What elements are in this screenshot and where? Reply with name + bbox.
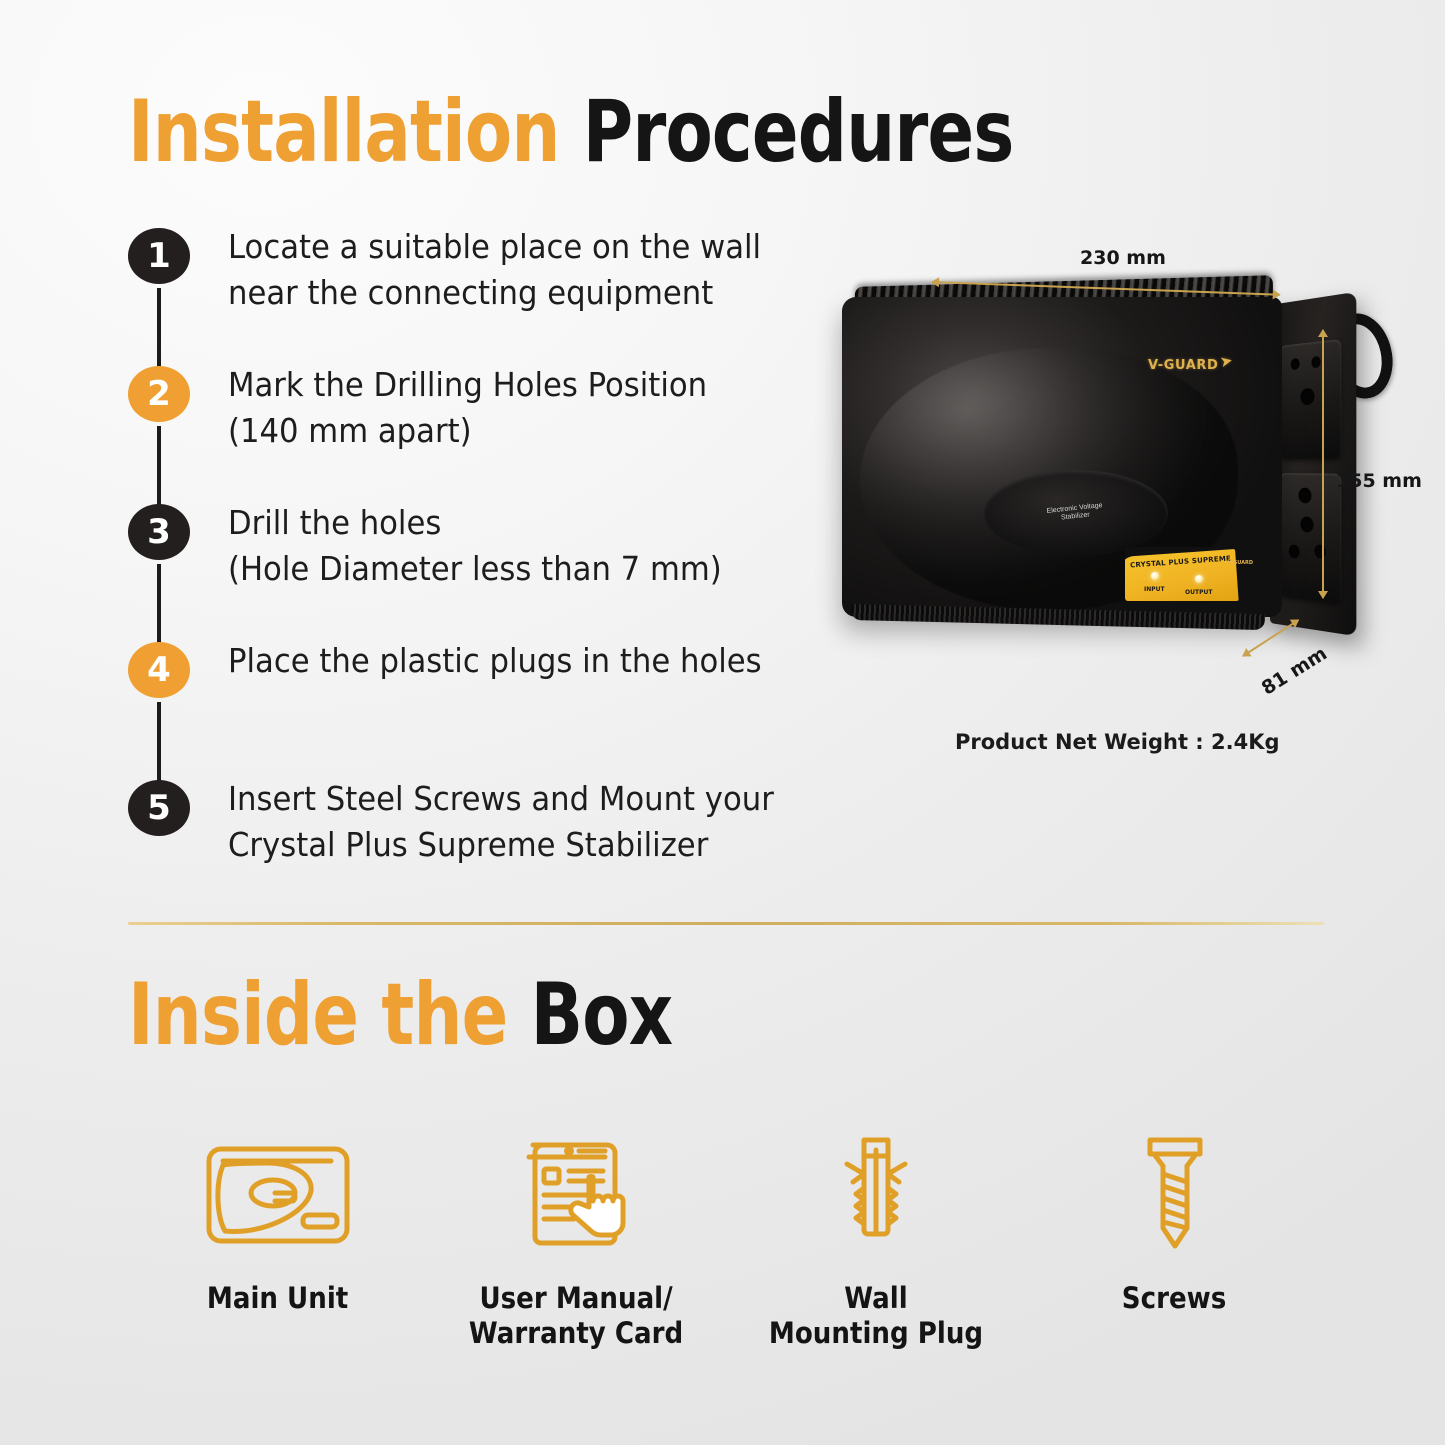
socket-pin-hole <box>1301 388 1315 405</box>
step-number-badge-2: 2 <box>128 366 190 422</box>
dimension-height-label: 155 mm <box>1336 470 1422 492</box>
dimension-width-label: 230 mm <box>1080 247 1166 269</box>
step-number-2: 2 <box>147 374 171 414</box>
front-oval-emblem: Electronic Voltage Stabilizer <box>983 470 1168 556</box>
installation-step-1: 1 Locate a suitable place on the wall ne… <box>128 228 801 315</box>
socket-pin-hole <box>1299 488 1312 504</box>
installation-step-2: 2 Mark the Drilling Holes Position (140 … <box>128 366 743 453</box>
arrowhead-up-icon <box>1318 329 1328 337</box>
vguard-brand-logo: V-GUARD➤ <box>1148 355 1234 373</box>
step-number-4: 4 <box>147 650 171 690</box>
box-contents-list: Main Unit User Manual/ Warranty Card <box>128 1135 1324 1352</box>
box-item-label-user-manual: User Manual/ Warranty Card <box>469 1281 683 1352</box>
socket-pin-hole <box>1311 356 1320 368</box>
step-text-1: Locate a suitable place on the wall near… <box>228 224 761 315</box>
step-number-badge-4: 4 <box>128 642 190 698</box>
box-heading-dark: Box <box>508 965 673 1065</box>
wall-plug-anchor-icon <box>831 1135 921 1253</box>
box-item-label-wall-plug: Wall Mounting Plug <box>768 1281 982 1352</box>
socket-outlet-bottom <box>1279 473 1341 604</box>
stabilizer-unit-icon <box>203 1135 353 1253</box>
installation-heading: Installation Procedures <box>128 82 1014 182</box>
product-model-label: CRYSTAL PLUS SUPREME INPUT OUTPUT V-GUAR… <box>1125 547 1260 601</box>
stabilizer-unit-photo: Electronic Voltage Stabilizer V-GUARD➤ C… <box>842 297 1282 617</box>
box-heading-accent: Inside the <box>128 965 508 1065</box>
label-vguard-mark: V-GUARD <box>1228 560 1253 566</box>
arrowhead-left-icon <box>931 277 939 287</box>
product-photo-area: Electronic Voltage Stabilizer V-GUARD➤ C… <box>830 235 1430 765</box>
step-text-3: Drill the holes (Hole Diameter less than… <box>228 500 722 591</box>
step-text-4: Place the plastic plugs in the holes <box>228 638 762 684</box>
box-item-wall-plug: Wall Mounting Plug <box>736 1135 1016 1352</box>
vguard-wordmark: V-GUARD <box>1148 358 1218 373</box>
arrowhead-right-icon <box>1273 289 1281 299</box>
output-led-icon <box>1195 575 1203 583</box>
installation-heading-dark: Procedures <box>560 82 1014 182</box>
box-item-main-unit: Main Unit <box>138 1135 418 1316</box>
box-item-label-main-unit: Main Unit <box>207 1281 348 1316</box>
socket-pin-hole <box>1289 544 1300 558</box>
step-number-1: 1 <box>147 236 171 276</box>
manual-document-icon <box>517 1135 637 1253</box>
input-led-icon <box>1151 572 1159 580</box>
screw-icon <box>1132 1135 1218 1253</box>
step-number-3: 3 <box>147 512 171 552</box>
step-number-badge-3: 3 <box>128 504 190 560</box>
installation-heading-accent: Installation <box>128 82 560 182</box>
box-item-user-manual: User Manual/ Warranty Card <box>437 1135 717 1352</box>
socket-pin-hole <box>1301 516 1314 532</box>
installation-step-4: 4 Place the plastic plugs in the holes <box>128 642 802 698</box>
stabilizer-front-face: Electronic Voltage Stabilizer V-GUARD➤ C… <box>842 297 1282 617</box>
stabilizer-face-text: Electronic Voltage Stabilizer <box>1046 502 1103 524</box>
socket-pin-hole <box>1291 358 1300 370</box>
product-side-panel <box>1270 292 1356 636</box>
kangaroo-icon: ➤ <box>1219 350 1236 370</box>
box-item-label-screws: Screws <box>1122 1281 1226 1316</box>
installation-step-5: 5 Insert Steel Screws and Mount your Cry… <box>128 780 815 867</box>
step-number-badge-5: 5 <box>128 780 190 836</box>
step-number-5: 5 <box>147 788 171 828</box>
installation-step-3: 3 Drill the holes (Hole Diameter less th… <box>128 504 759 591</box>
output-led-label: OUTPUT <box>1185 589 1212 596</box>
product-infographic: Installation Procedures 1 Locate a suita… <box>0 0 1445 1445</box>
socket-outlet-top <box>1279 339 1341 459</box>
input-led-label: INPUT <box>1144 586 1165 593</box>
inside-the-box-heading: Inside the Box <box>128 965 672 1065</box>
step-text-2: Mark the Drilling Holes Position (140 mm… <box>228 362 707 453</box>
step-text-5: Insert Steel Screws and Mount your Cryst… <box>228 776 774 867</box>
box-item-screws: Screws <box>1035 1135 1315 1316</box>
product-net-weight: Product Net Weight : 2.4Kg <box>955 730 1280 754</box>
arrowhead-down-icon <box>1318 591 1328 599</box>
section-divider <box>128 922 1324 925</box>
step-number-badge-1: 1 <box>128 228 190 284</box>
dimension-height-arrow <box>1322 330 1324 598</box>
